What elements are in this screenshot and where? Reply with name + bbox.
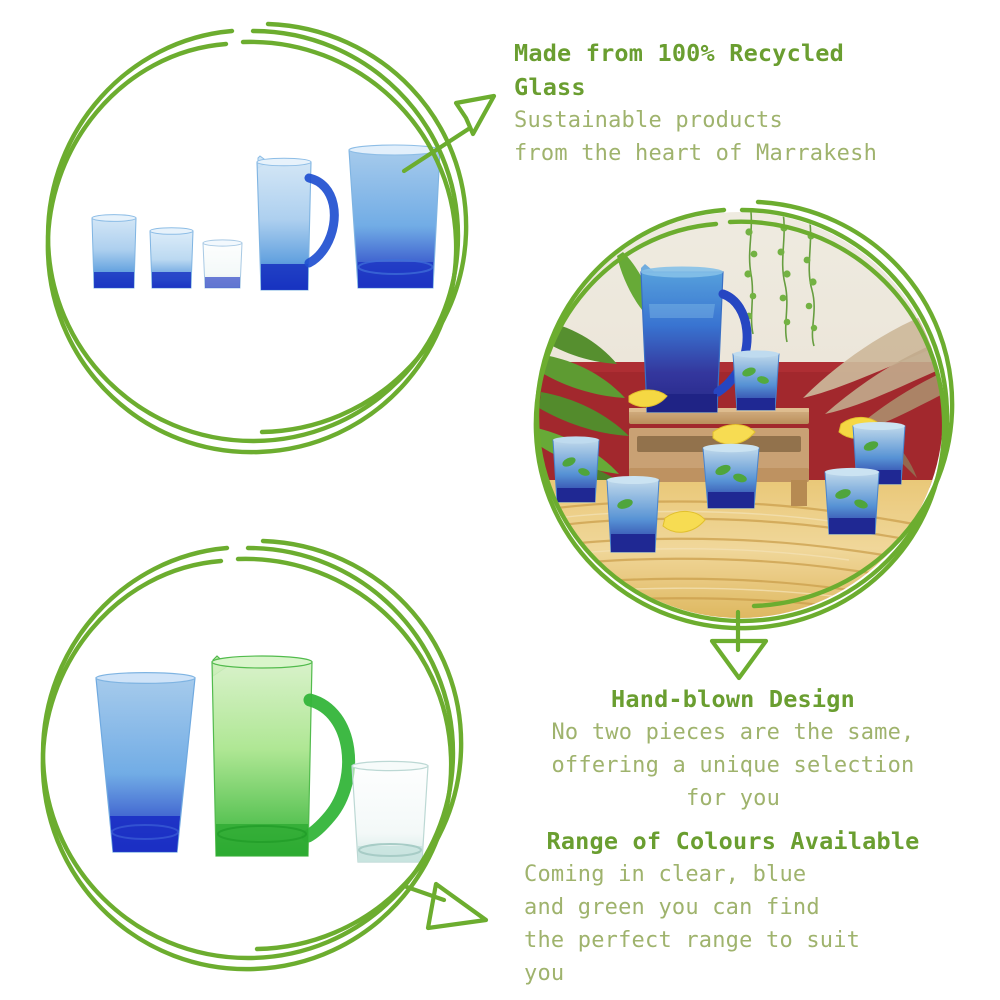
feature-body-handblown: No two pieces are the same, offering a u… [498, 716, 968, 815]
feature-block-recycled: Made from 100% Recycled Glass Sustainabl… [514, 36, 974, 170]
infographic-canvas: Made from 100% Recycled Glass Sustainabl… [0, 0, 1000, 1000]
feature-block-handblown: Hand-blown Design No two pieces are the … [498, 682, 968, 815]
feature-heading-recycled: Made from 100% Recycled Glass [514, 36, 974, 104]
feature-heading-handblown: Hand-blown Design [498, 682, 968, 716]
feature-block-colours: Range of Colours Available Coming in cle… [498, 824, 968, 990]
feature-body-recycled: Sustainable products from the heart of M… [514, 104, 974, 170]
feature-heading-colours: Range of Colours Available [498, 824, 968, 858]
feature-body-colours: Coming in clear, blue and green you can … [498, 858, 968, 990]
